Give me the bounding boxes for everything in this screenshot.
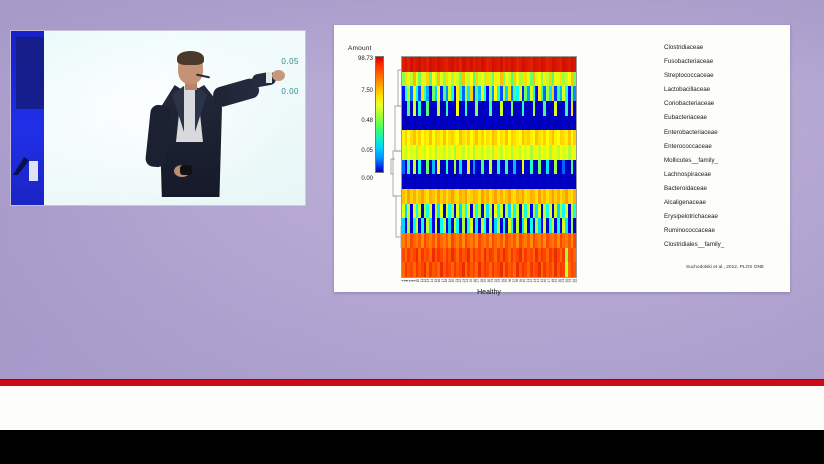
heatmap-row	[402, 86, 576, 101]
taxa-label: Ruminococcaceae	[664, 224, 784, 238]
colorbar-tick: 0.05	[361, 148, 373, 154]
heatmap-cell	[573, 57, 576, 72]
heatmap-grid	[401, 56, 577, 278]
heatmap-row	[402, 160, 576, 175]
colorbar-tick: 98.73	[358, 56, 373, 62]
heatmap-cell	[573, 72, 576, 87]
heatmap-row	[402, 262, 576, 277]
footer-red-rule	[0, 379, 824, 386]
heatmap-row	[402, 189, 576, 204]
wall-dark-rectangle	[16, 37, 44, 109]
heatmap-row	[402, 57, 576, 72]
screen-axis-value-lower: 0.00	[281, 87, 299, 96]
heatmap-row	[402, 248, 576, 263]
taxa-label: Alcaligenaceae	[664, 196, 784, 210]
colorbar-gradient	[375, 56, 384, 173]
podium-paper	[29, 161, 38, 181]
heatmap-cell	[573, 130, 576, 145]
heatmap-cell	[573, 116, 576, 131]
taxa-label-list: ClostridiaceaeFusobacteriaceaeStreptococ…	[664, 41, 784, 252]
presentation-clicker	[180, 165, 192, 175]
taxa-label: Enterococcaceae	[664, 140, 784, 154]
screen-axis-value-upper: 0.05	[281, 57, 299, 66]
heatmap-cell	[573, 189, 576, 204]
heatmap-cell	[573, 233, 576, 248]
speaker-pointing-hand	[272, 70, 285, 81]
speaker-figure	[140, 53, 260, 205]
taxa-label: Mollicutes__family_	[664, 154, 784, 168]
taxa-label: Erysipelotrichaceae	[664, 210, 784, 224]
heatmap-row	[402, 101, 576, 116]
slide-screenshot: 0.05 0.00 Amount	[0, 0, 824, 464]
heatmap-row	[402, 145, 576, 160]
taxa-label: Lactobacillaceae	[664, 83, 784, 97]
figure-panel: Amount 98.737.500.480.050.00	[334, 25, 790, 292]
heatmap-cell	[573, 218, 576, 233]
colorbar-tick: 0.00	[361, 176, 373, 182]
taxa-label: Eubacteriaceae	[664, 111, 784, 125]
heatmap-cell	[573, 204, 576, 219]
heatmap-row	[402, 174, 576, 189]
microphone-stand-icon	[13, 157, 29, 175]
speaker-hair	[177, 51, 204, 65]
heatmap-row	[402, 130, 576, 145]
taxa-label: Clostridiaceae	[664, 41, 784, 55]
heatmap-cell	[573, 262, 576, 277]
heatmap-row	[402, 116, 576, 131]
heatmap-cell	[573, 145, 576, 160]
colorbar-tick: 7.50	[361, 88, 373, 94]
heatmap-cell	[573, 86, 576, 101]
heatmap-x-axis-label: Healthy	[401, 289, 577, 296]
taxa-label: Enterobacteriaceae	[664, 126, 784, 140]
heatmap-row	[402, 204, 576, 219]
speaker-video-panel[interactable]: 0.05 0.00	[11, 31, 305, 205]
heatmap-row	[402, 218, 576, 233]
letterbox-bottom	[0, 430, 824, 464]
heatmap-row	[402, 72, 576, 87]
footer-white-band: PURINA	[0, 386, 824, 430]
taxa-label: Streptococcaceae	[664, 69, 784, 83]
taxa-label: Clostridiales__family_	[664, 238, 784, 252]
colorbar-tick: 0.48	[361, 118, 373, 124]
heatmap-row	[402, 233, 576, 248]
heatmap-cell	[573, 101, 576, 116]
projection-screen: 0.05 0.00	[44, 31, 305, 205]
heatmap-cell	[573, 160, 576, 175]
video-room-wall	[11, 31, 44, 205]
taxa-label: Bacteroidaceae	[664, 182, 784, 196]
taxa-label: Fusobacteriaceae	[664, 55, 784, 69]
taxa-label: Coriobacteriaceae	[664, 97, 784, 111]
colorbar-tick-labels: 98.737.500.480.050.00	[340, 50, 373, 178]
figure-citation: Suchodolski et al., 2012, PLOS ONE	[686, 265, 764, 270]
heatmap-cell	[573, 174, 576, 189]
taxa-label: Lachnospiraceae	[664, 168, 784, 182]
heatmap-cell	[573, 248, 576, 263]
